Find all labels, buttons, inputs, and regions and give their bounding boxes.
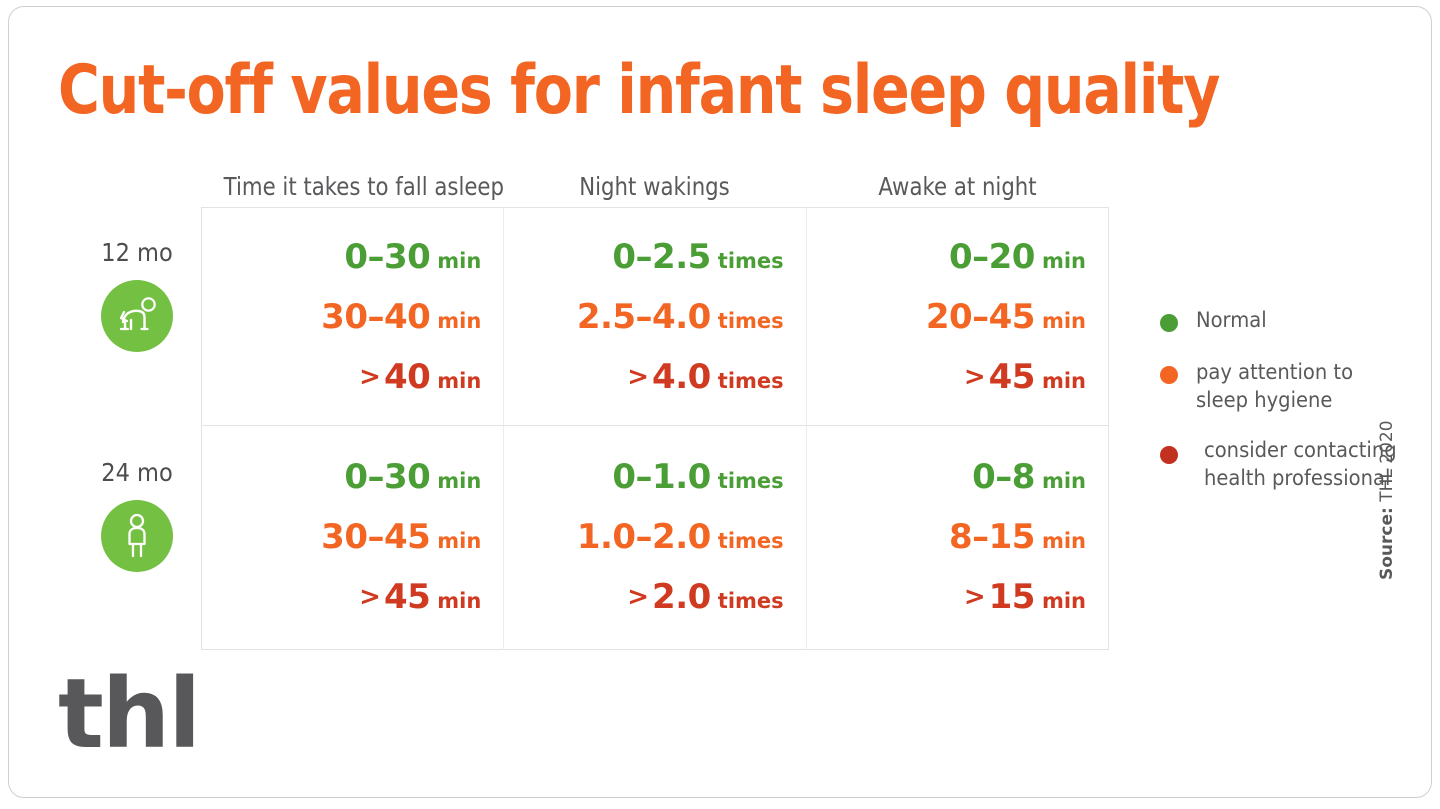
value-unit: min — [430, 589, 481, 613]
column-header-night-wakings: Night wakings — [526, 170, 784, 204]
gt-symbol: > — [359, 582, 384, 612]
value-number: 0–20 — [949, 237, 1035, 277]
value-unit: min — [430, 529, 481, 553]
cell-24mo-fall-asleep: 0–30min 30–45min >45min — [202, 426, 503, 650]
gt-symbol — [969, 462, 972, 492]
value-12mo-awake-normal: 0–20min — [817, 240, 1086, 274]
gt-symbol — [946, 522, 949, 552]
source-credit: Source: THL 2020 — [1377, 380, 1397, 580]
infographic-page: Cut-off values for infant sleep quality … — [0, 0, 1440, 809]
value-number: 0–2.5 — [612, 237, 710, 277]
legend-label-attention: pay attention to sleep hygiene — [1196, 358, 1406, 414]
value-number: 0–1.0 — [612, 457, 710, 497]
gt-symbol — [574, 522, 577, 552]
age-label-24mo: 24 mo — [70, 458, 205, 488]
value-24mo-awake-normal: 0–8min — [817, 460, 1086, 494]
value-number: 0–30 — [344, 457, 430, 497]
gt-symbol: > — [359, 362, 384, 392]
value-12mo-awake-contact: >45min — [817, 360, 1086, 394]
value-12mo-night-wakings-normal: 0–2.5times — [514, 240, 783, 274]
legend-dot-normal-icon — [1160, 314, 1178, 332]
value-number: 30–40 — [321, 297, 430, 337]
column-header-awake-at-night: Awake at night — [829, 170, 1087, 204]
value-12mo-night-wakings-contact: >4.0times — [514, 360, 783, 394]
age-icon-circle-12mo — [101, 280, 173, 352]
cell-12mo-fall-asleep: 0–30min 30–40min >40min — [202, 208, 503, 425]
crawling-baby-icon — [115, 296, 159, 336]
value-24mo-fall-asleep-normal: 0–30min — [212, 460, 481, 494]
value-unit: min — [430, 249, 481, 273]
value-number: 4.0 — [652, 357, 711, 397]
value-number: 2.0 — [652, 577, 711, 617]
value-unit: min — [430, 469, 481, 493]
value-24mo-awake-contact: >15min — [817, 580, 1086, 614]
value-12mo-fall-asleep-attention: 30–40min — [212, 300, 481, 334]
value-unit: times — [711, 469, 784, 493]
cell-12mo-night-wakings: 0–2.5times 2.5–4.0times >4.0times — [503, 208, 805, 425]
table-row-24mo: 0–30min 30–45min >45min 0–1.0times 1.0–2… — [202, 425, 1108, 650]
value-12mo-fall-asleep-contact: >40min — [212, 360, 481, 394]
legend-item-normal: Normal — [1152, 306, 1422, 336]
gt-symbol: > — [627, 362, 652, 392]
age-group-24mo: 24 mo — [62, 458, 212, 572]
gt-symbol — [318, 302, 321, 332]
gt-symbol — [609, 462, 612, 492]
value-number: 1.0–2.0 — [577, 517, 711, 557]
thl-logo: thl — [58, 666, 199, 762]
cutoff-values-table: 0–30min 30–40min >40min 0–2.5times 2.5–4… — [201, 207, 1109, 650]
value-number: 0–30 — [344, 237, 430, 277]
source-label: Source: — [1377, 507, 1397, 580]
age-group-12mo: 12 mo — [62, 238, 212, 352]
cell-24mo-night-wakings: 0–1.0times 1.0–2.0times >2.0times — [503, 426, 805, 650]
value-12mo-awake-attention: 20–45min — [817, 300, 1086, 334]
value-unit: min — [1035, 469, 1086, 493]
age-label-12mo: 12 mo — [70, 238, 205, 268]
value-number: 45 — [384, 577, 430, 617]
gt-symbol — [946, 242, 949, 272]
value-unit: times — [711, 529, 784, 553]
age-icon-circle-24mo — [101, 500, 173, 572]
value-number: 2.5–4.0 — [577, 297, 711, 337]
cell-24mo-awake-at-night: 0–8min 8–15min >15min — [806, 426, 1108, 650]
legend-dot-contact-icon — [1160, 446, 1178, 464]
gt-symbol — [574, 302, 577, 332]
source-value: THL 2020 — [1377, 420, 1397, 501]
gt-symbol — [923, 302, 926, 332]
value-number: 20–45 — [926, 297, 1035, 337]
value-12mo-fall-asleep-normal: 0–30min — [212, 240, 481, 274]
gt-symbol: > — [964, 582, 989, 612]
column-headers: Time it takes to fall asleep Night wakin… — [201, 170, 1109, 206]
value-24mo-night-wakings-attention: 1.0–2.0times — [514, 520, 783, 554]
value-number: 15 — [989, 577, 1035, 617]
value-unit: min — [430, 369, 481, 393]
value-number: 8–15 — [949, 517, 1035, 557]
value-unit: min — [1035, 589, 1086, 613]
value-unit: min — [1035, 249, 1086, 273]
column-header-fall-asleep: Time it takes to fall asleep — [224, 170, 481, 204]
value-number: 40 — [384, 357, 430, 397]
gt-symbol — [318, 522, 321, 552]
value-unit: min — [1035, 309, 1086, 333]
value-24mo-night-wakings-normal: 0–1.0times — [514, 460, 783, 494]
gt-symbol: > — [627, 582, 652, 612]
page-title: Cut-off values for infant sleep quality — [58, 52, 1219, 130]
value-24mo-awake-attention: 8–15min — [817, 520, 1086, 554]
value-number: 0–8 — [972, 457, 1035, 497]
value-unit: min — [430, 309, 481, 333]
value-unit: times — [711, 369, 784, 393]
standing-toddler-icon — [120, 513, 154, 559]
gt-symbol — [341, 462, 344, 492]
value-unit: times — [711, 309, 784, 333]
value-unit: min — [1035, 369, 1086, 393]
cell-12mo-awake-at-night: 0–20min 20–45min >45min — [806, 208, 1108, 425]
value-24mo-fall-asleep-contact: >45min — [212, 580, 481, 614]
gt-symbol — [341, 242, 344, 272]
legend-dot-attention-icon — [1160, 366, 1178, 384]
value-unit: times — [711, 589, 784, 613]
value-unit: min — [1035, 529, 1086, 553]
gt-symbol: > — [964, 362, 989, 392]
value-number: 30–45 — [321, 517, 430, 557]
value-unit: times — [711, 249, 784, 273]
value-number: 45 — [989, 357, 1035, 397]
value-24mo-fall-asleep-attention: 30–45min — [212, 520, 481, 554]
value-24mo-night-wakings-contact: >2.0times — [514, 580, 783, 614]
gt-symbol — [609, 242, 612, 272]
value-12mo-night-wakings-attention: 2.5–4.0times — [514, 300, 783, 334]
table-row-12mo: 0–30min 30–40min >40min 0–2.5times 2.5–4… — [202, 208, 1108, 425]
legend-label-normal: Normal — [1196, 306, 1406, 334]
